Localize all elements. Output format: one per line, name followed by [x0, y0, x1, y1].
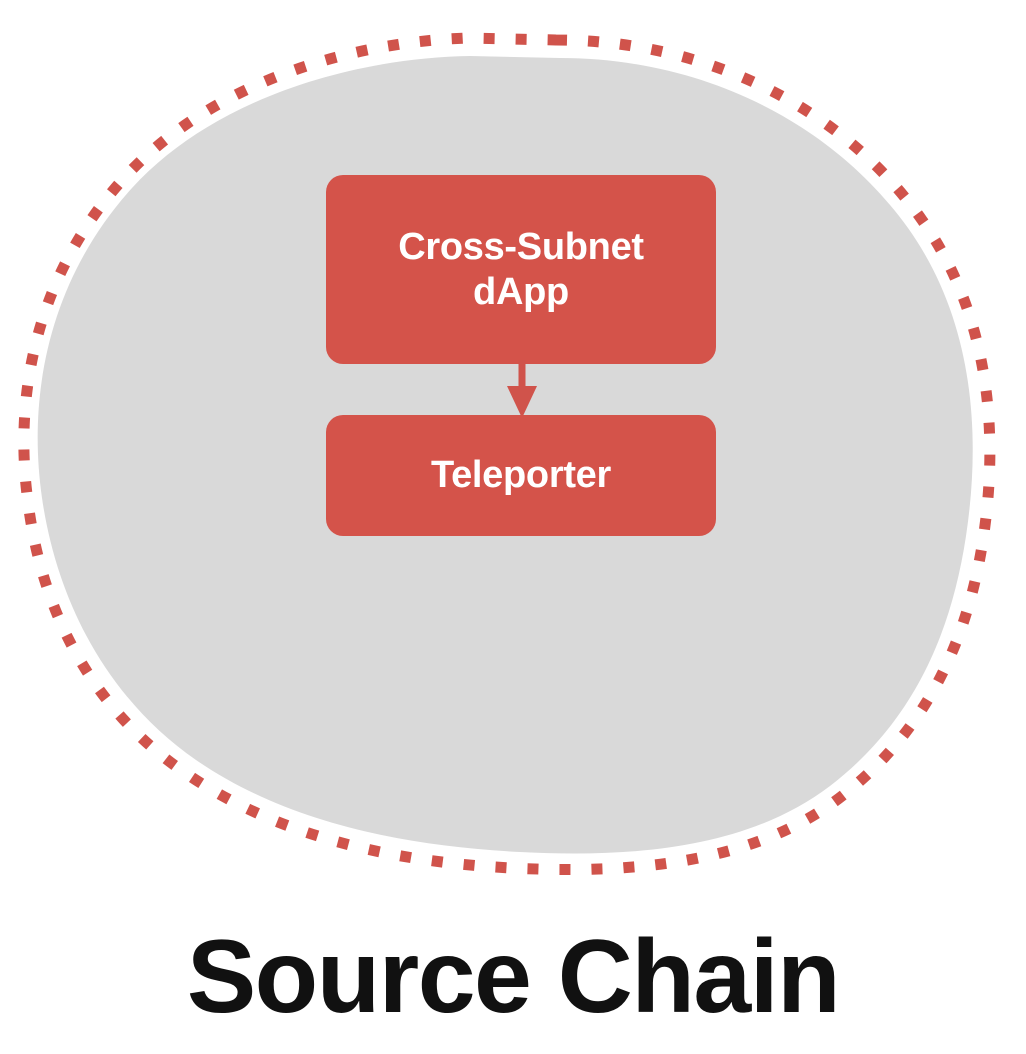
node-cross-subnet-dapp[interactable]: Cross-Subnet dApp: [326, 175, 716, 364]
node-teleporter-label: Teleporter: [417, 453, 625, 498]
diagram-title: Source Chain: [0, 925, 1026, 1029]
diagram-canvas: Cross-Subnet dApp Teleporter Source Chai…: [0, 0, 1026, 1054]
node-cross-subnet-dapp-label: Cross-Subnet dApp: [384, 225, 658, 315]
arrow-dapp-to-teleporter-icon: [494, 360, 550, 420]
node-teleporter[interactable]: Teleporter: [326, 415, 716, 536]
